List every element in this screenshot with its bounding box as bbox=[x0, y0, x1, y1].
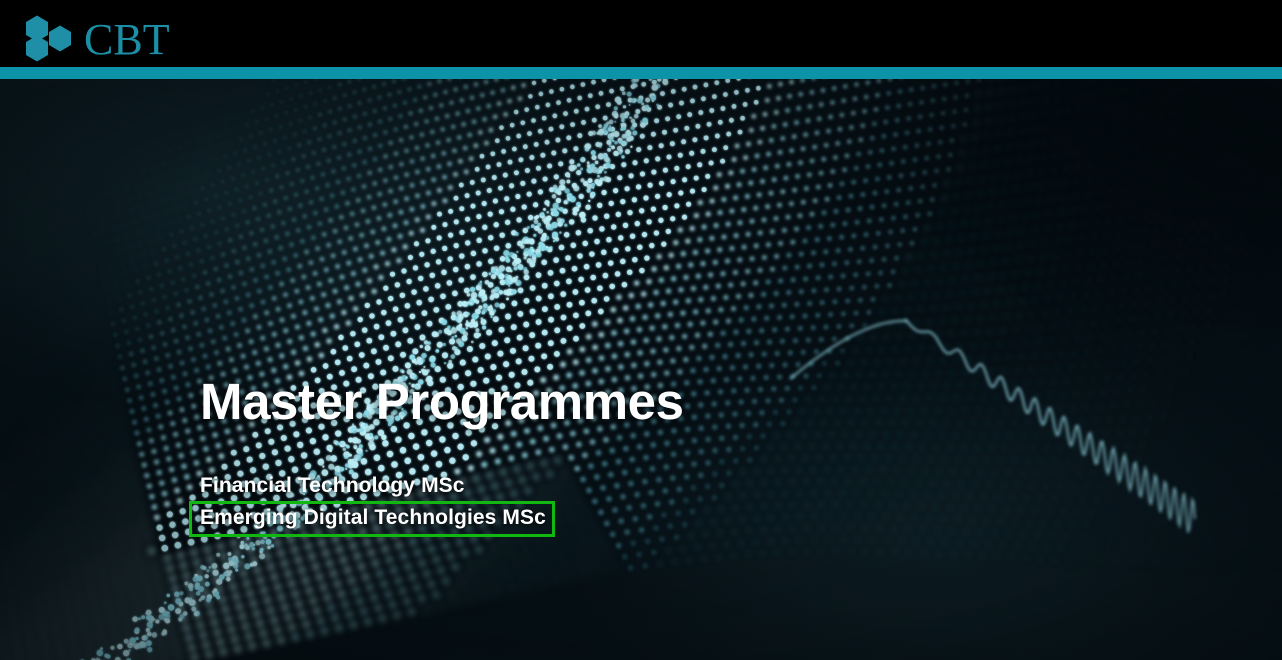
programme-list: Financial Technology MSc Emerging Digita… bbox=[200, 472, 1100, 537]
header-accent-bar bbox=[0, 67, 1282, 79]
logo-wordmark: CBT bbox=[84, 17, 170, 63]
programme-list-item[interactable]: Financial Technology MSc bbox=[200, 472, 1100, 500]
site-logo[interactable]: CBT bbox=[18, 8, 248, 66]
site-header: CBT bbox=[0, 0, 1282, 67]
hero-background-mesh bbox=[0, 79, 1282, 660]
programme-list-item-highlighted[interactable]: Emerging Digital Technolgies MSc bbox=[189, 501, 555, 537]
hero-copy: Master Programmes Financial Technology M… bbox=[200, 374, 1100, 495]
cbt-hexagon-logo-icon bbox=[18, 8, 90, 66]
page-root: CBT bbox=[0, 0, 1282, 660]
page-title: Master Programmes bbox=[200, 374, 1100, 430]
hero-banner: Master Programmes Financial Technology M… bbox=[0, 79, 1282, 660]
